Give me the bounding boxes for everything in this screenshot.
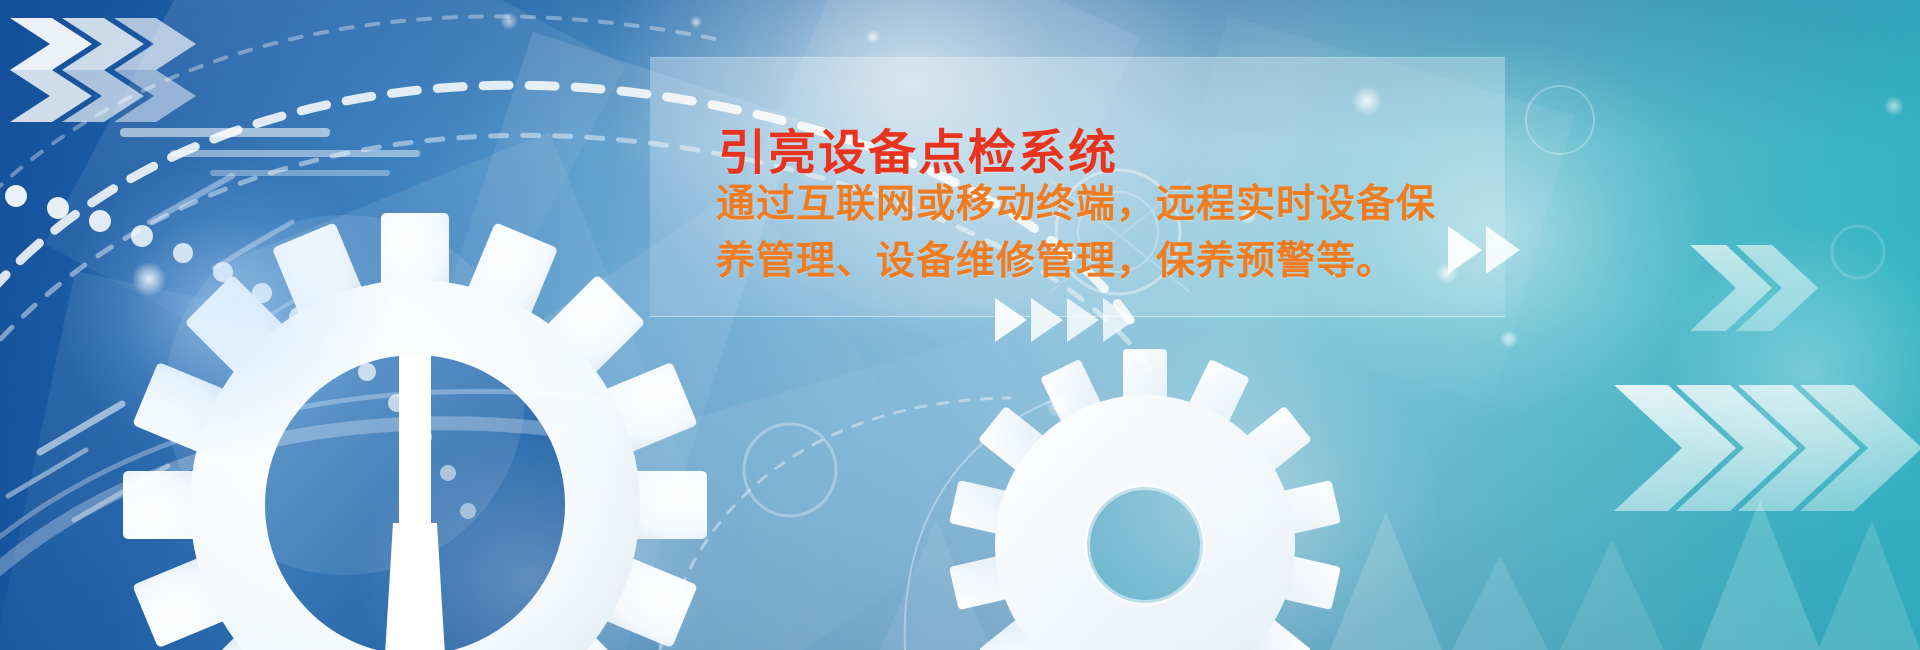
page-title: 引亮设备点检系统 bbox=[718, 130, 1118, 178]
banner-subtitle: 通过互联网或移动终端，远程实时设备保 养管理、设备维修管理，保养预警等。 bbox=[716, 176, 1536, 290]
banner-subtitle-line: 养管理、设备维修管理，保养预警等。 bbox=[716, 233, 1536, 290]
banner-hero: 引亮设备点检系统 通过互联网或移动终端，远程实时设备保 养管理、设备维修管理，保… bbox=[0, 0, 1920, 650]
banner-subtitle-line: 通过互联网或移动终端，远程实时设备保 bbox=[716, 176, 1536, 233]
background-left-blue-wash bbox=[0, 0, 560, 650]
